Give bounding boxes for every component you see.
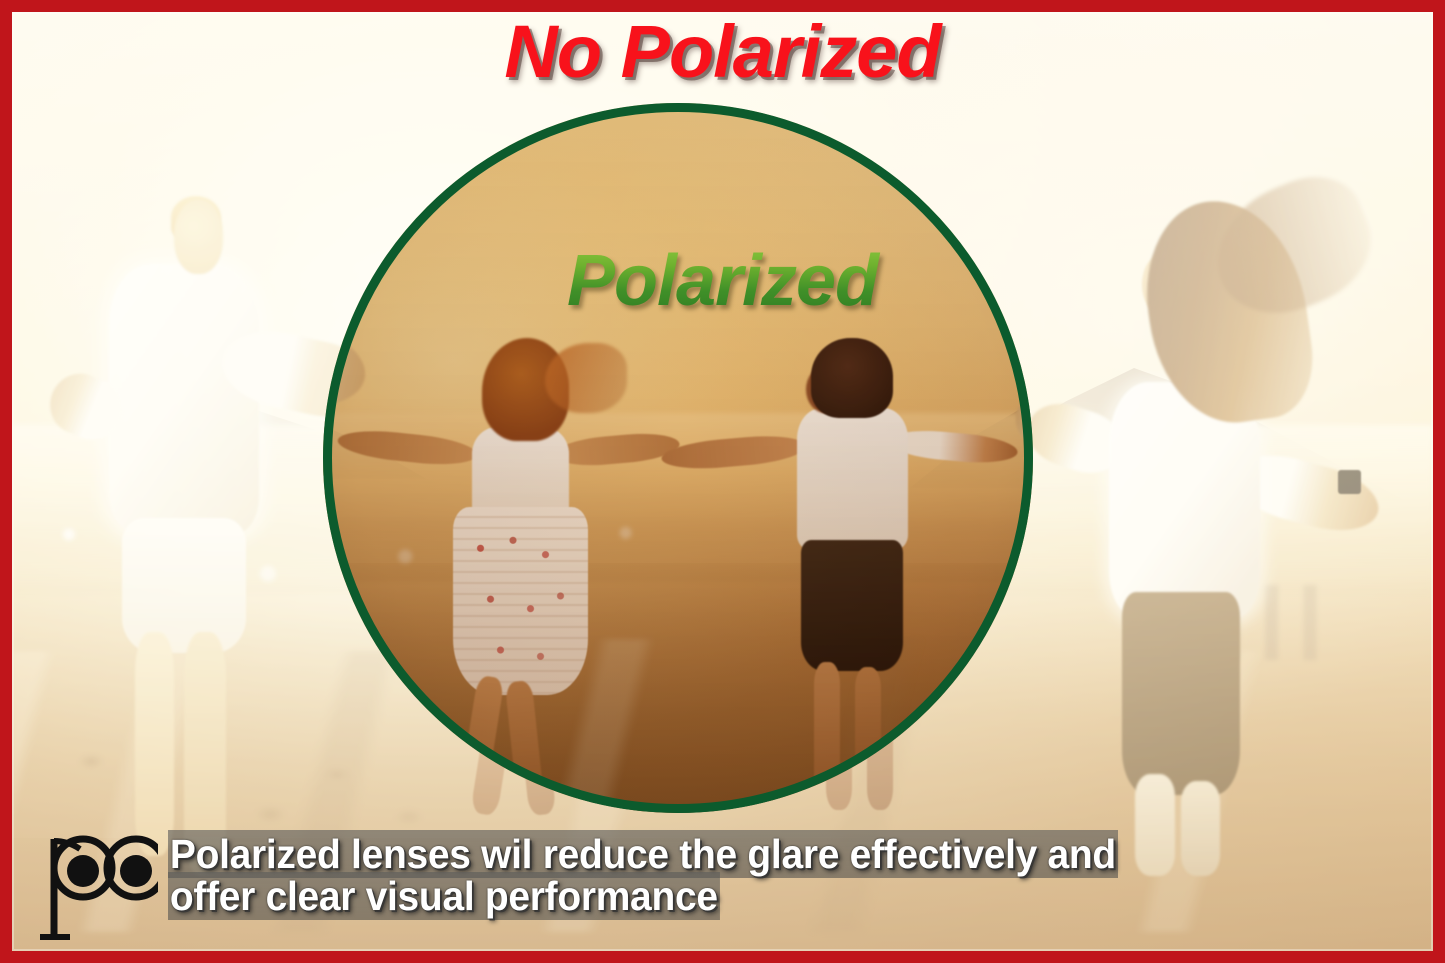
headline-no-polarized: No Polarized xyxy=(0,12,1445,92)
polarized-saturation-overlay xyxy=(323,103,1033,813)
eyeglasses-icon xyxy=(28,835,158,941)
caption-line-1: Polarized lenses wil reduce the glare ef… xyxy=(168,830,1118,878)
caption-text-block: Polarized lenses wil reduce the glare ef… xyxy=(168,833,1370,917)
caption-line-2: offer clear visual performance xyxy=(168,872,720,920)
headline-polarized: Polarized xyxy=(0,243,1445,321)
polarized-lens-circle xyxy=(323,103,1033,813)
polarized-lens-comparison-poster: No Polarized Polarized Polarized lenses … xyxy=(0,0,1445,963)
caption-bar: Polarized lenses wil reduce the glare ef… xyxy=(12,833,1433,941)
